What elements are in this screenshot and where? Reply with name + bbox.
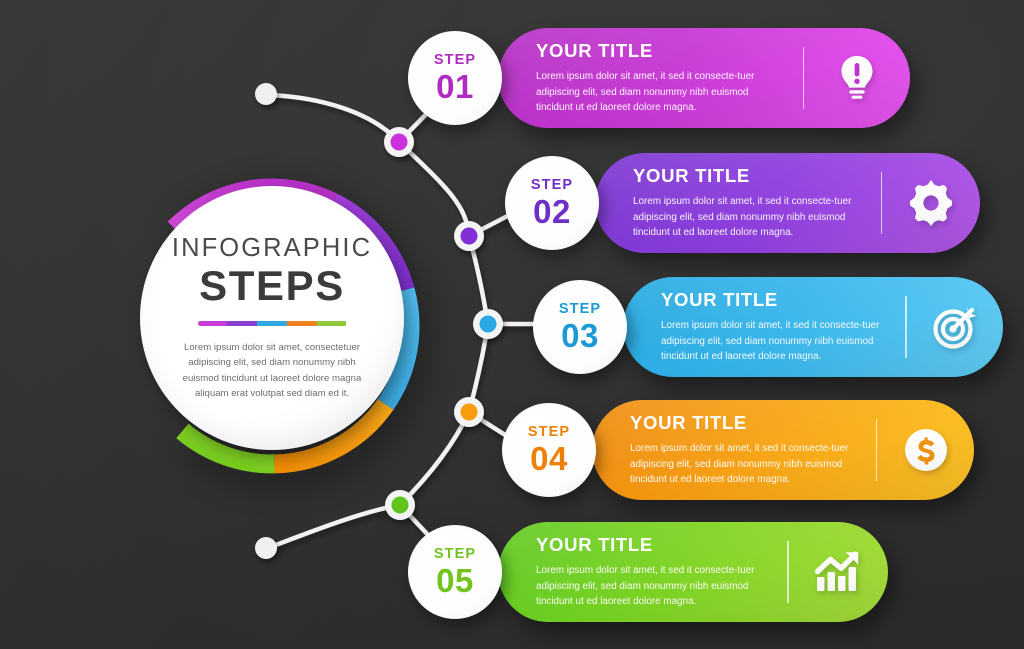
endpoint-dot-top [255, 83, 277, 105]
step-title-1: YOUR TITLE [536, 40, 781, 62]
step-row-4: YOUR TITLE Lorem ipsum dolor sit amet, i… [502, 400, 902, 500]
step-bubble-5[interactable]: STEP 05 [408, 525, 502, 619]
step-row-5: YOUR TITLE Lorem ipsum dolor sit amet, i… [408, 522, 816, 622]
growth-chart-icon [789, 549, 888, 595]
bar-seg-4 [287, 321, 317, 326]
step-label-4: STEP [528, 425, 570, 440]
step-bubble-4[interactable]: STEP 04 [502, 403, 596, 497]
center-title-top: INFOGRAPHIC [172, 234, 372, 263]
step-number-1: 01 [436, 70, 474, 103]
node-core-1 [391, 134, 408, 151]
step-text-5: Lorem ipsum dolor sit amet, it sed it co… [536, 563, 765, 609]
step-title-4: YOUR TITLE [630, 412, 854, 434]
step-row-3: YOUR TITLE Lorem ipsum dolor sit amet, i… [533, 277, 933, 377]
step-title-5: YOUR TITLE [536, 534, 765, 556]
step-row-2: YOUR TITLE Lorem ipsum dolor sit amet, i… [505, 153, 910, 253]
center-badge: INFOGRAPHIC STEPS Lorem ipsum dolor sit … [124, 178, 420, 474]
bar-seg-1 [198, 321, 228, 326]
step-number-2: 02 [533, 195, 571, 228]
node-core-3 [480, 316, 497, 333]
dollar-coin-icon [877, 427, 974, 473]
step-bubble-1[interactable]: STEP 01 [408, 31, 502, 125]
step-number-4: 04 [530, 442, 568, 475]
step-pill-2[interactable]: YOUR TITLE Lorem ipsum dolor sit amet, i… [595, 153, 980, 253]
endpoint-dot-bottom [255, 537, 277, 559]
step-label-5: STEP [434, 547, 476, 562]
step-text-1: Lorem ipsum dolor sit amet, it sed it co… [536, 69, 781, 115]
step-label-1: STEP [434, 53, 476, 68]
step-number-3: 03 [561, 319, 599, 352]
step-pill-5[interactable]: YOUR TITLE Lorem ipsum dolor sit amet, i… [498, 522, 888, 622]
infographic-canvas: INFOGRAPHIC STEPS Lorem ipsum dolor sit … [0, 0, 1024, 649]
node-core-5 [392, 497, 409, 514]
step-text-2: Lorem ipsum dolor sit amet, it sed it co… [633, 194, 859, 240]
center-body-text: Lorem ipsum dolor sit amet, consectetuer… [175, 340, 369, 402]
center-disc: INFOGRAPHIC STEPS Lorem ipsum dolor sit … [140, 186, 404, 450]
step-label-2: STEP [531, 178, 573, 193]
lightbulb-alert-icon [804, 54, 910, 102]
step-bubble-3[interactable]: STEP 03 [533, 280, 627, 374]
node-core-4 [461, 404, 478, 421]
step-text-4: Lorem ipsum dolor sit amet, it sed it co… [630, 441, 854, 487]
step-pill-4[interactable]: YOUR TITLE Lorem ipsum dolor sit amet, i… [592, 400, 974, 500]
bar-seg-3 [257, 321, 287, 326]
bar-seg-5 [317, 321, 347, 326]
center-color-bar [198, 321, 347, 326]
step-title-3: YOUR TITLE [661, 289, 883, 311]
center-title-main: STEPS [199, 264, 345, 309]
step-text-3: Lorem ipsum dolor sit amet, it sed it co… [661, 318, 883, 364]
bar-seg-2 [227, 321, 257, 326]
gear-icon [882, 180, 980, 226]
step-pill-3[interactable]: YOUR TITLE Lorem ipsum dolor sit amet, i… [623, 277, 1003, 377]
node-core-2 [461, 228, 478, 245]
step-number-5: 05 [436, 564, 474, 597]
target-icon [907, 303, 1003, 351]
step-row-1: YOUR TITLE Lorem ipsum dolor sit amet, i… [408, 28, 838, 128]
step-bubble-2[interactable]: STEP 02 [505, 156, 599, 250]
step-pill-1[interactable]: YOUR TITLE Lorem ipsum dolor sit amet, i… [498, 28, 910, 128]
step-label-3: STEP [559, 302, 601, 317]
step-title-2: YOUR TITLE [633, 165, 859, 187]
